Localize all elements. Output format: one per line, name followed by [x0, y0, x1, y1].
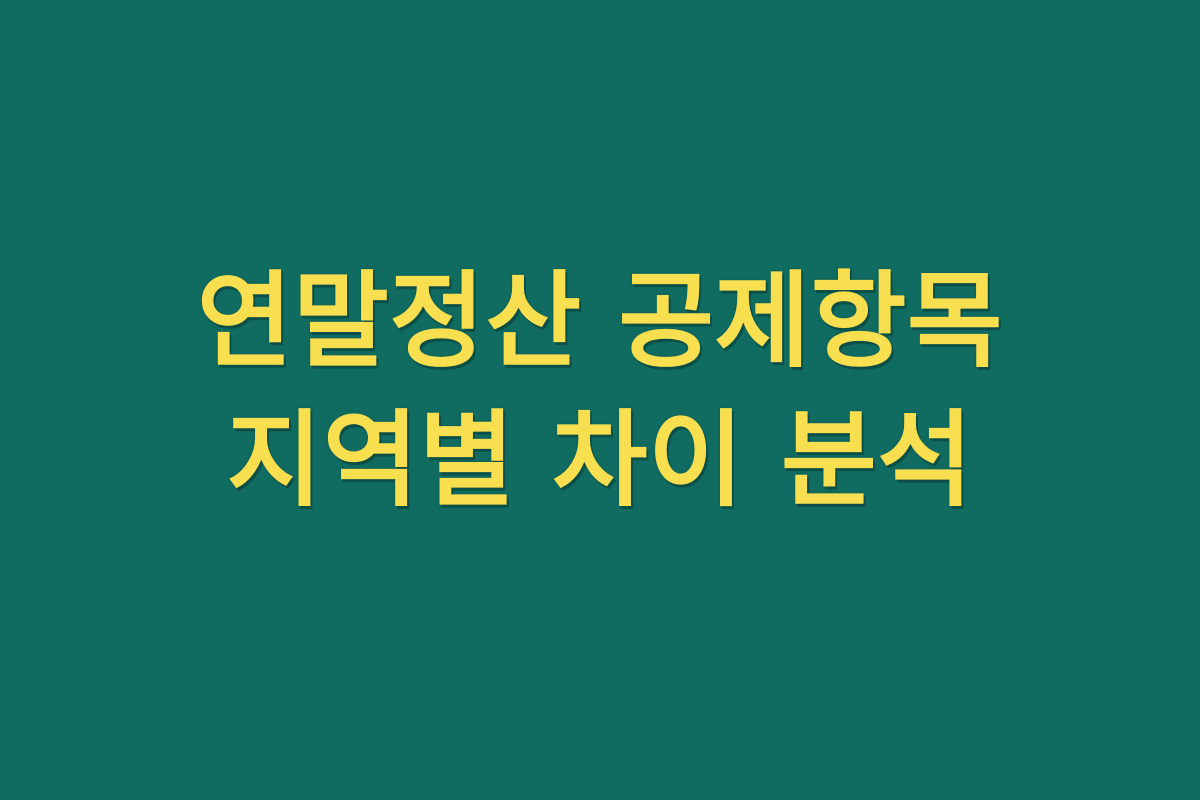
page-title: 연말정산 공제항목 지역별 차이 분석 [80, 252, 1120, 531]
title-text-block: 연말정산 공제항목 지역별 차이 분석 [80, 252, 1120, 549]
title-card: 연말정산 공제항목 지역별 차이 분석 [0, 0, 1200, 800]
